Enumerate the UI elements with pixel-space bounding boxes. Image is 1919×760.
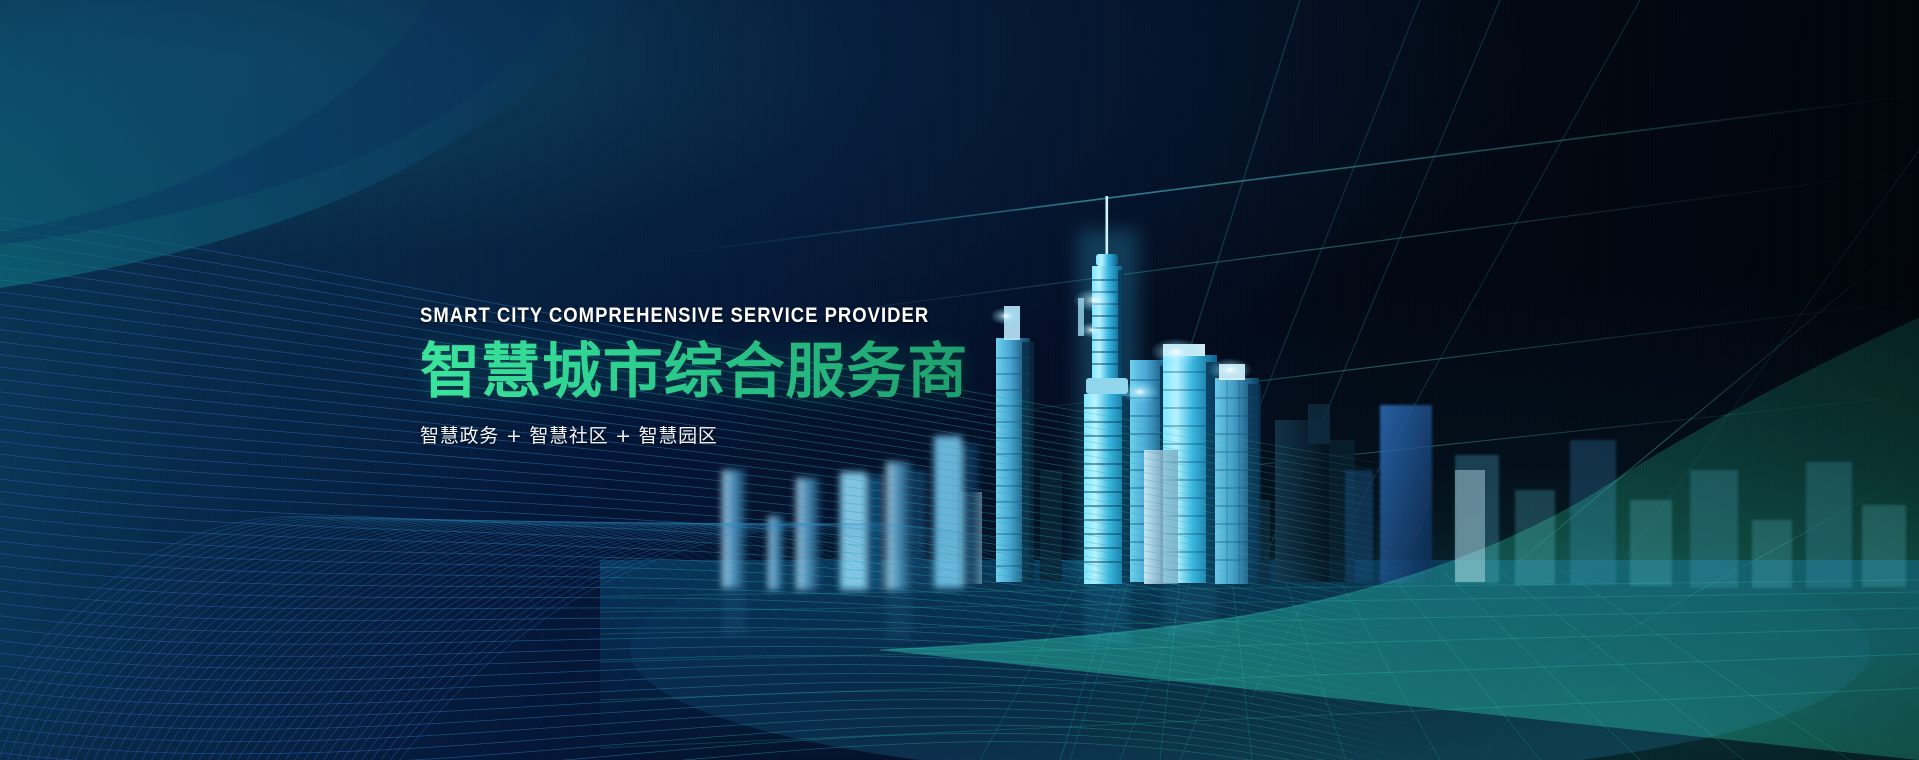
page-title: 智慧城市综合服务商 [420, 340, 1240, 405]
smart-city-hero-banner: SMART CITY COMPREHENSIVE SERVICE PROVIDE… [0, 0, 1919, 760]
subtitle-services-list: 智慧政务 + 智慧社区 + 智慧园区 [420, 421, 1240, 448]
eyebrow-english-tagline: SMART CITY COMPREHENSIVE SERVICE PROVIDE… [420, 305, 1142, 326]
hero-copy-block: SMART CITY COMPREHENSIVE SERVICE PROVIDE… [420, 305, 1240, 448]
